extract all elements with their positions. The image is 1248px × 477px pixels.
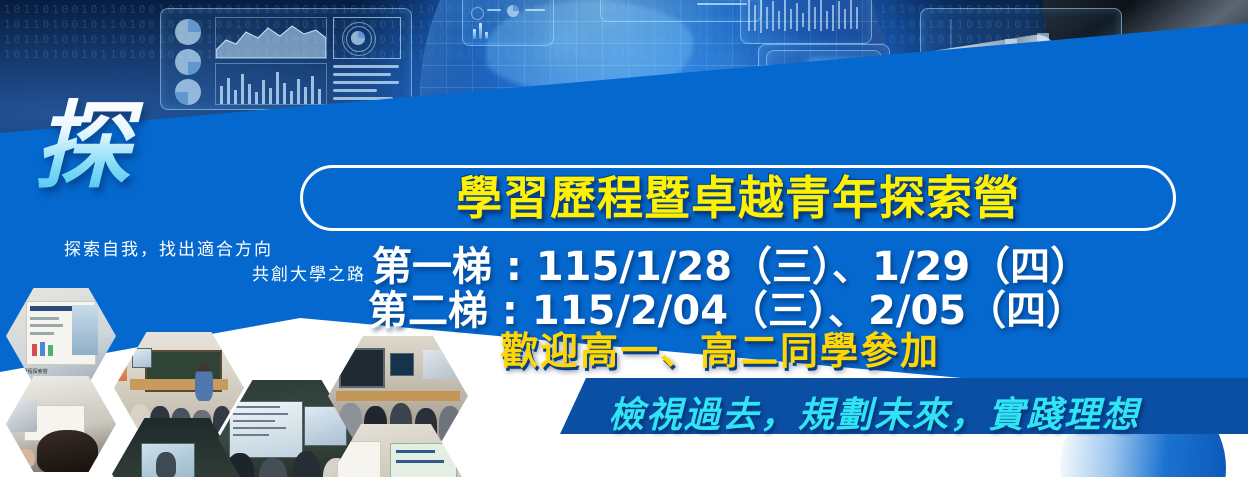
event-banner: 1011010010110100101101001011010010110100… — [0, 0, 1248, 477]
hud-top-panel — [600, 0, 762, 22]
hud-icon-panel — [462, 0, 554, 46]
hud-dashboard-panel-left — [160, 8, 412, 110]
headline-char-1: 探 — [34, 90, 132, 202]
page-title: 探索 — [34, 98, 248, 194]
eligibility-note: 歡迎高一、高二同學參加 — [500, 320, 940, 375]
photo-video-presentation — [112, 418, 242, 477]
slogan-text: 檢視過去，規劃未來，實踐理想 — [608, 386, 1140, 438]
photo-caption: 學習歷程探索營 — [13, 369, 48, 376]
headline-char-2: 索 — [150, 132, 248, 228]
photo-student-writing — [6, 376, 116, 472]
event-title-pill: 學習歷程暨卓越青年探索營 — [300, 165, 1176, 231]
tagline: 探索自我，找出適合方向 共創大學之路 — [60, 238, 372, 288]
photo-poster: 學習歷程探索營 — [6, 288, 116, 384]
tagline-line-2: 共創大學之路 — [60, 263, 372, 288]
tagline-line-1: 探索自我，找出適合方向 — [60, 238, 372, 263]
event-title-text: 學習歷程暨卓越青年探索營 — [456, 175, 1020, 221]
